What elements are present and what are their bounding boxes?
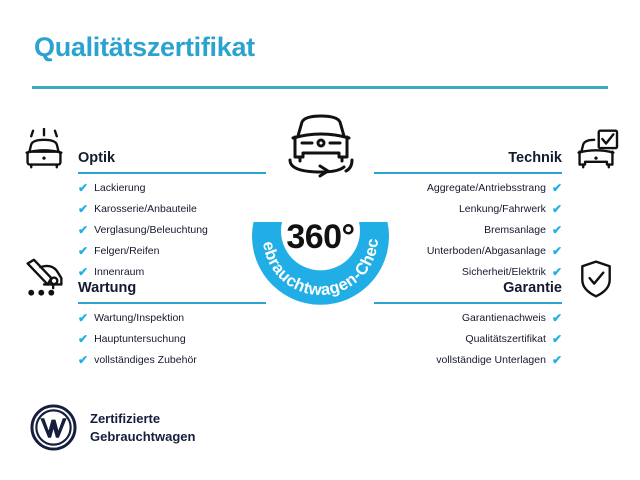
section-title-technik: Technik bbox=[508, 150, 562, 166]
section-header: Garantie bbox=[374, 258, 624, 304]
car-shine-icon bbox=[20, 128, 68, 170]
footer-logo-text: Zertifizierte Gebrauchtwagen bbox=[90, 410, 195, 444]
list-item: ✔vollständiges Zubehör bbox=[16, 354, 266, 366]
list-item-label: Aggregate/Antriebsstrang bbox=[427, 183, 546, 194]
check-icon: ✔ bbox=[78, 333, 88, 345]
list-item: Bremsanlage✔ bbox=[374, 224, 624, 236]
check-icon: ✔ bbox=[552, 333, 562, 345]
check-icon: ✔ bbox=[78, 224, 88, 236]
section-header: Wartung bbox=[16, 258, 266, 304]
list-item-label: Lenkung/Fahrwerk bbox=[459, 204, 546, 215]
list-item: ✔Lackierung bbox=[16, 182, 266, 194]
list-item: Qualitätszertifikat✔ bbox=[374, 333, 624, 345]
header-divider bbox=[32, 86, 608, 89]
badge-360-gebrauchtwagen-check: Gebrauchtwagen-Check 360° bbox=[233, 150, 408, 325]
list-item-label: Verglasung/Beleuchtung bbox=[94, 225, 208, 236]
checklist-wartung: ✔Wartung/Inspektion ✔Hauptuntersuchung ✔… bbox=[16, 312, 266, 366]
check-icon: ✔ bbox=[78, 203, 88, 215]
list-item: ✔Wartung/Inspektion bbox=[16, 312, 266, 324]
list-item: ✔Felgen/Reifen bbox=[16, 245, 266, 257]
list-item-label: Hauptuntersuchung bbox=[94, 334, 186, 345]
list-item: Garantienachweis✔ bbox=[374, 312, 624, 324]
section-title-wartung: Wartung bbox=[78, 280, 136, 296]
list-item-label: vollständige Unterlagen bbox=[436, 355, 546, 366]
car-service-pen-icon bbox=[20, 258, 68, 300]
section-header: Technik bbox=[374, 128, 624, 174]
section-header: Optik bbox=[16, 128, 266, 174]
list-item-label: vollständiges Zubehör bbox=[94, 355, 197, 366]
shield-check-icon bbox=[572, 258, 620, 300]
volkswagen-logo bbox=[30, 404, 77, 451]
list-item: vollständige Unterlagen✔ bbox=[374, 354, 624, 366]
section-title-garantie: Garantie bbox=[503, 280, 562, 296]
badge-center-label: 360° bbox=[233, 218, 408, 257]
list-item: Aggregate/Antriebsstrang✔ bbox=[374, 182, 624, 194]
list-item-label: Unterboden/Abgasanlage bbox=[427, 246, 546, 257]
list-item-label: Garantienachweis bbox=[462, 313, 546, 324]
list-item-label: Karosserie/Anbauteile bbox=[94, 204, 197, 215]
list-item-label: Lackierung bbox=[94, 183, 145, 194]
section-wartung: Wartung ✔Wartung/Inspektion ✔Hauptunters… bbox=[16, 258, 266, 375]
list-item: Lenkung/Fahrwerk✔ bbox=[374, 203, 624, 215]
check-icon: ✔ bbox=[78, 182, 88, 194]
list-item: ✔Verglasung/Beleuchtung bbox=[16, 224, 266, 236]
list-item: ✔Karosserie/Anbauteile bbox=[16, 203, 266, 215]
check-icon: ✔ bbox=[552, 224, 562, 236]
list-item-label: Wartung/Inspektion bbox=[94, 313, 184, 324]
list-item: ✔Hauptuntersuchung bbox=[16, 333, 266, 345]
section-garantie: Garantie Garantienachweis✔ Qualitätszert… bbox=[374, 258, 624, 375]
page-title: Qualitätszertifikat bbox=[34, 32, 255, 63]
list-item-label: Qualitätszertifikat bbox=[465, 334, 546, 345]
car-front-rotate-icon bbox=[280, 110, 362, 180]
list-item-label: Felgen/Reifen bbox=[94, 246, 159, 257]
footer-logo: Zertifizierte Gebrauchtwagen bbox=[30, 404, 195, 451]
check-icon: ✔ bbox=[78, 354, 88, 366]
check-icon: ✔ bbox=[552, 182, 562, 194]
list-item: Unterboden/Abgasanlage✔ bbox=[374, 245, 624, 257]
car-checkbox-icon bbox=[572, 128, 620, 170]
list-item-label: Bremsanlage bbox=[484, 225, 546, 236]
check-icon: ✔ bbox=[552, 203, 562, 215]
check-icon: ✔ bbox=[552, 354, 562, 366]
checklist-garantie: Garantienachweis✔ Qualitätszertifikat✔ v… bbox=[374, 312, 624, 366]
check-icon: ✔ bbox=[78, 245, 88, 257]
check-icon: ✔ bbox=[552, 312, 562, 324]
check-icon: ✔ bbox=[552, 245, 562, 257]
check-icon: ✔ bbox=[78, 312, 88, 324]
section-title-optik: Optik bbox=[78, 150, 115, 166]
